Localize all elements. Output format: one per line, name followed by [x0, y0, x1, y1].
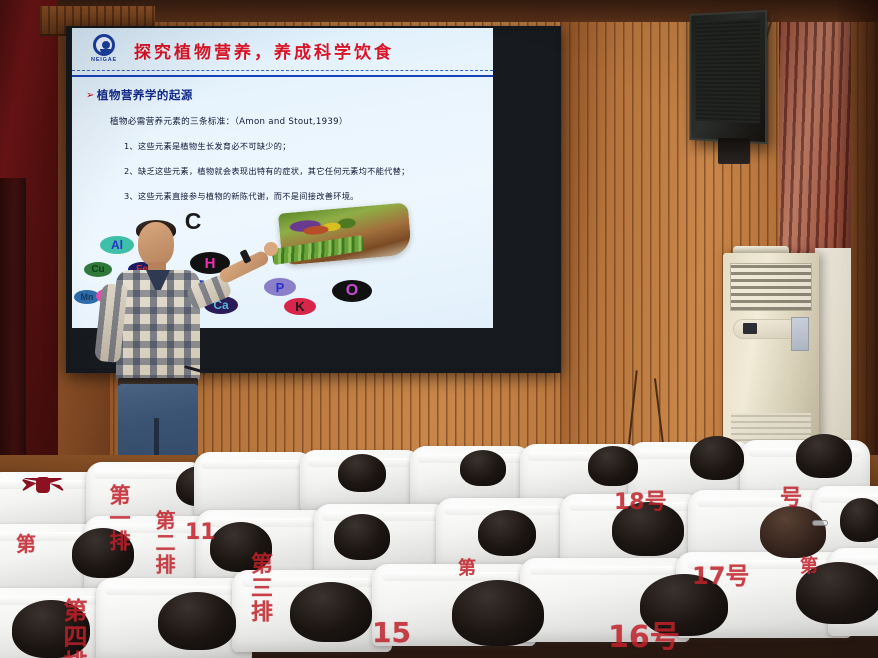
presenter-hand	[264, 242, 278, 256]
slide-body: ➢ 植物营养学的起源 植物必需营养元素的三条标准：（Amon and Stout…	[72, 77, 493, 202]
audience-member-head	[12, 600, 90, 658]
audience-seating: 第一排第二排第三排第四排第第111518号17号16号号第	[0, 432, 878, 658]
lecture-hall-scene: NEIGAE 探究植物营养，养成科学饮食 ➢ 植物营养学的起源 植物必需营养元素…	[0, 0, 878, 658]
slide-heading-text: 植物营养学的起源	[97, 87, 193, 103]
institute-logo: NEIGAE	[84, 34, 124, 63]
criteria-item: 1、这些元素是植物生长发育必不可缺少的；	[124, 140, 481, 152]
slide-heading: ➢ 植物营养学的起源	[86, 87, 481, 103]
slide-header: NEIGAE 探究植物营养，养成科学饮食	[72, 28, 493, 77]
audience-member-head	[452, 580, 544, 646]
audience-member-head	[840, 498, 878, 542]
presenter-head	[138, 222, 174, 266]
audience-member-head	[690, 436, 744, 480]
audience-member-head	[588, 446, 638, 486]
audience-member-head	[72, 528, 134, 578]
eyeglasses	[812, 520, 828, 526]
audience-member-head	[460, 450, 506, 486]
criteria-item: 2、缺乏这些元素，植物就会表现出特有的症状，其它任何元素均不能代替；	[124, 165, 481, 177]
audience-member-head	[760, 506, 826, 558]
element-bubble-p: P	[264, 278, 296, 296]
audience-member-head	[290, 582, 372, 642]
audience-member-head	[338, 454, 386, 492]
bullet-arrow-icon: ➢	[86, 90, 95, 101]
speaker-mount-bracket	[718, 138, 750, 164]
audience-member-head	[210, 522, 272, 572]
audience-chair	[194, 452, 314, 518]
audience-member-head	[796, 434, 852, 478]
audience-member-head	[334, 514, 390, 560]
criteria-item: 3、这些元素直接参与植物的新陈代谢，而不是间接改善环境。	[124, 190, 481, 202]
presenter-figure	[92, 222, 224, 467]
speaker-grill	[696, 18, 760, 123]
air-conditioner-badge	[791, 317, 809, 351]
logo-circle-icon	[93, 34, 115, 56]
wall-speaker-icon	[689, 10, 767, 144]
air-conditioner-vent-icon	[730, 263, 812, 311]
audience-member-head	[640, 574, 728, 636]
audience-member-head	[158, 592, 236, 650]
element-bubble-o: O	[332, 280, 372, 302]
side-door[interactable]	[0, 178, 26, 470]
audience-member-head	[796, 562, 878, 624]
air-conditioner-display	[743, 323, 757, 334]
audience-member-head	[478, 510, 536, 556]
criteria-intro: 植物必需营养元素的三条标准：（Amon and Stout,1939）	[110, 115, 481, 127]
logo-text: NEIGAE	[84, 57, 124, 63]
slide-title: 探究植物营养，养成科学饮食	[134, 38, 485, 63]
element-bubble-k: K	[284, 298, 316, 315]
hair-bow-knot	[36, 477, 50, 493]
audience-member-head	[612, 502, 684, 556]
